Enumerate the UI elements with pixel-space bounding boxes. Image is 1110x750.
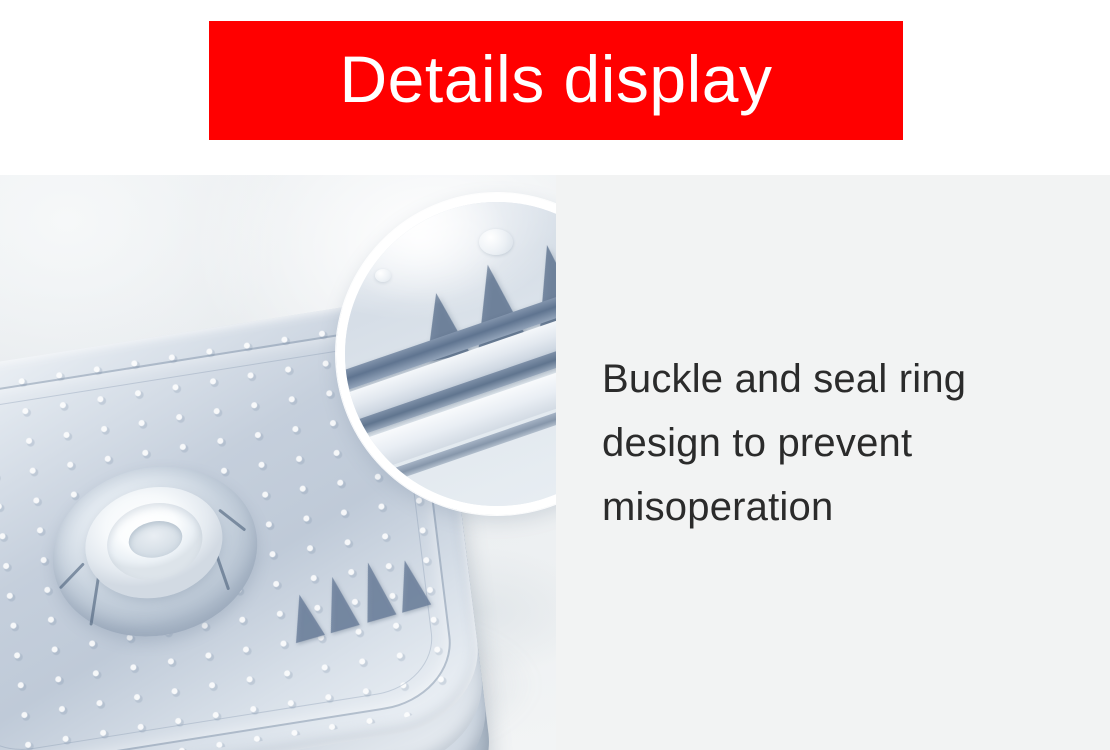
caption-line-1: Buckle and seal ring bbox=[602, 347, 1094, 411]
content-section: Buckle and seal ring design to prevent m… bbox=[0, 175, 1110, 750]
magnified-detail-callout bbox=[336, 193, 556, 515]
photo-canvas bbox=[0, 175, 556, 750]
caption-panel: Buckle and seal ring design to prevent m… bbox=[556, 175, 1110, 750]
banner-section: Details display bbox=[0, 0, 1110, 175]
banner-title: Details display bbox=[339, 46, 772, 112]
product-photo bbox=[0, 175, 556, 750]
vacuum-valve bbox=[43, 452, 267, 651]
caption-line-2: design to prevent bbox=[602, 411, 1094, 475]
buckle-tooth bbox=[318, 573, 360, 633]
buckle-tooth bbox=[390, 556, 431, 613]
callout-content bbox=[345, 202, 556, 506]
caption-line-3: misoperation bbox=[602, 475, 1094, 539]
details-display-banner: Details display bbox=[209, 21, 903, 140]
feature-caption: Buckle and seal ring design to prevent m… bbox=[602, 347, 1094, 539]
buckle-tooth bbox=[353, 558, 396, 622]
